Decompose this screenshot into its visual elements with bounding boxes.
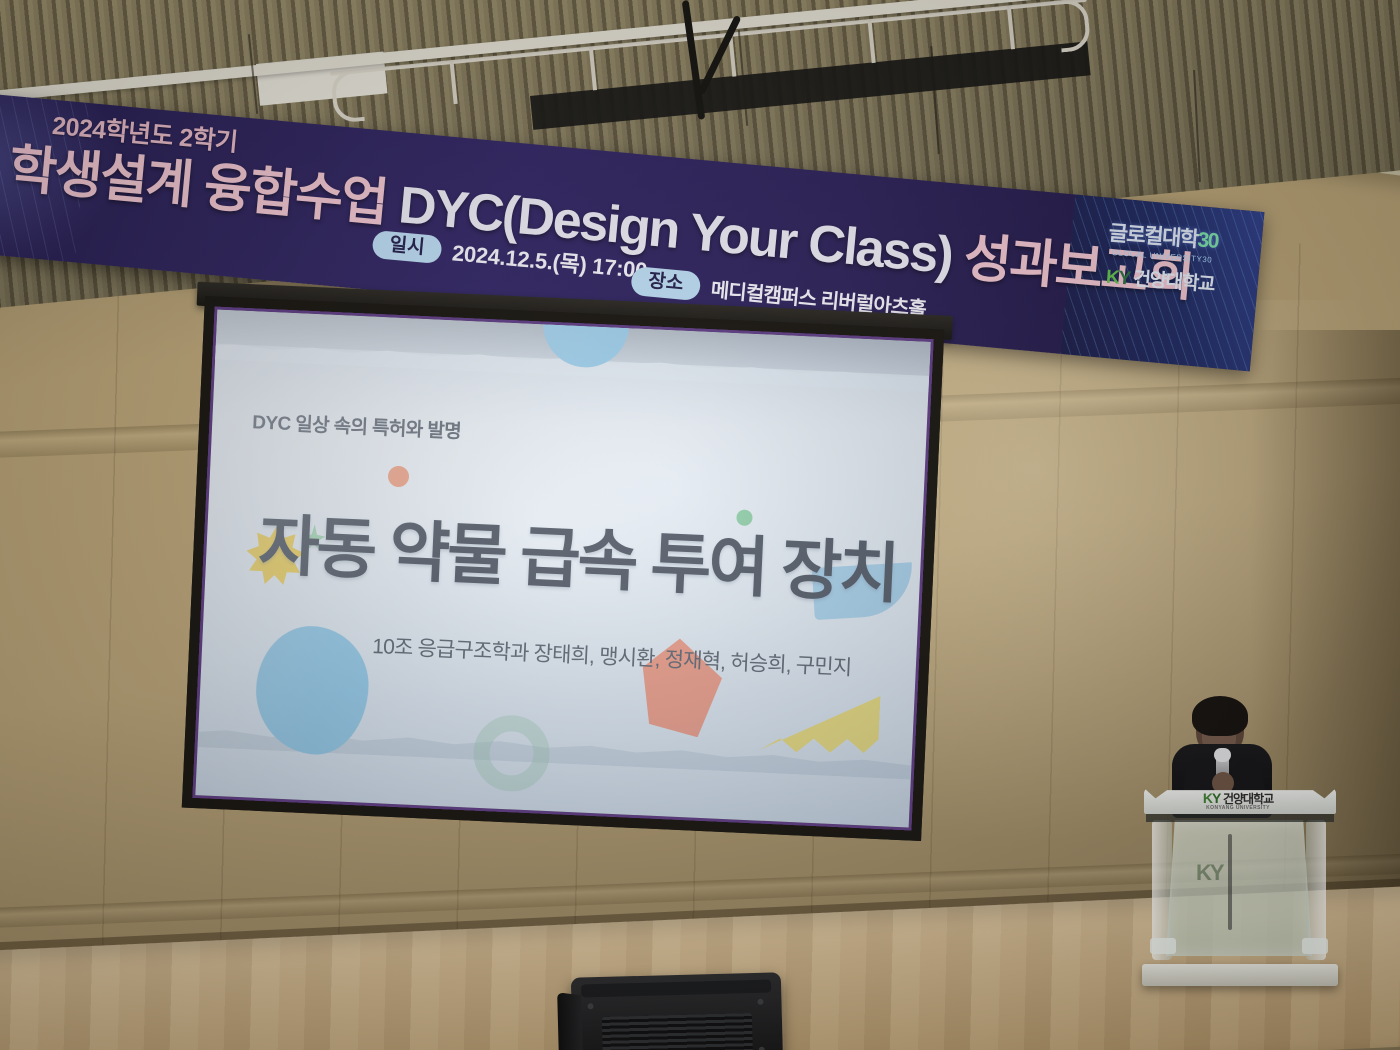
- banner-logos: 글로컬대학30 GLOCAL UNIVERSITY30 KY 건양대학교: [1079, 215, 1244, 299]
- presentation-hall-photo: 2024학년도 2학기 학생설계 융합수업 DYC(Design Your Cl…: [0, 0, 1400, 1050]
- microphone-head-icon: [1214, 748, 1231, 762]
- banner-place-badge: 장소: [630, 266, 701, 301]
- podium-front-logo: KY: [1196, 860, 1223, 886]
- projected-slide: DYC 일상 속의 특허와 발명 자동 약물 급속 투여 장치 10조 응급구조…: [195, 310, 930, 828]
- screen-vignette: [195, 310, 930, 828]
- podium-logo-english: KONYANG UNIVERSITY: [1178, 806, 1298, 811]
- podium-column-cap: [1150, 938, 1176, 954]
- speaker-grill: [602, 1013, 753, 1050]
- speaker-top-lip: [581, 980, 771, 998]
- podium-logo-name: 건양대학교: [1223, 792, 1273, 806]
- podium-glass-front: [1166, 820, 1312, 956]
- glocal-logo-number: 30: [1197, 228, 1219, 252]
- podium-logo-y: Y: [1212, 790, 1220, 806]
- podium-logo-k: K: [1203, 790, 1212, 806]
- banner-date-badge: 일시: [371, 229, 442, 264]
- podium-cable: [1228, 834, 1232, 930]
- speaker-side-panel: [557, 992, 583, 1050]
- stage-monitor-speaker: [571, 972, 783, 1050]
- lectern-podium: KY KY 건양대학교KONYANG UNIVERSITY: [1150, 788, 1328, 986]
- presenter-hair: [1192, 696, 1248, 736]
- podium-base: [1142, 964, 1338, 986]
- projection-screen-assembly: DYC 일상 속의 특허와 발명 자동 약물 급속 투여 장치 10조 응급구조…: [181, 296, 944, 849]
- podium-logo: KY 건양대학교KONYANG UNIVERSITY: [1178, 791, 1298, 811]
- podium-column-cap: [1302, 938, 1328, 954]
